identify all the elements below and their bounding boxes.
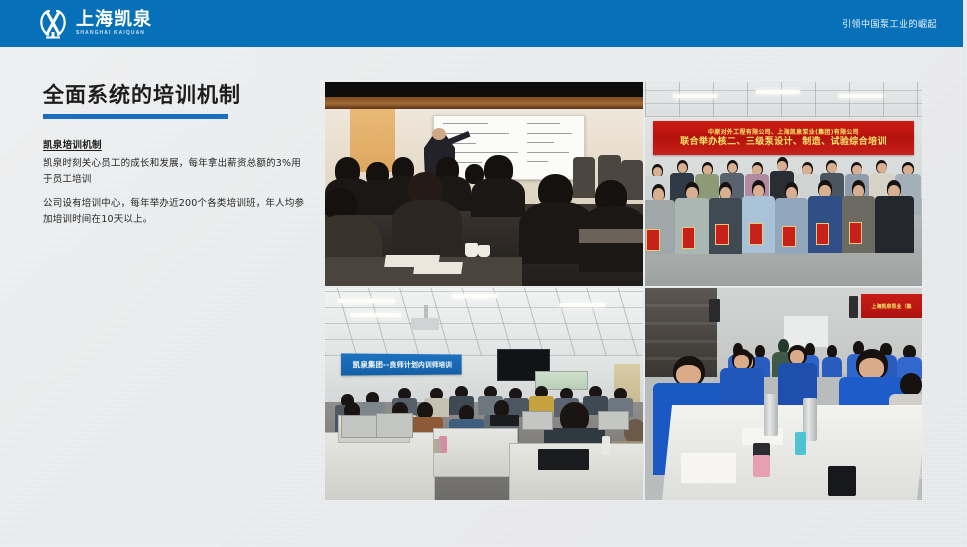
photo-computer-classroom[interactable]: 凯泉集团--良师计划内训师培训: [325, 288, 643, 500]
group-member-seated: [808, 180, 841, 274]
paragraph-two: 公司设有培训中心，每年举办近200个各类培训班，年人均参加培训时间在10天以上。: [43, 196, 305, 227]
monitor: [376, 413, 413, 438]
water-bottle: [764, 394, 778, 436]
certificate: [682, 227, 695, 249]
logo-english-text: SHANGHAI KAIQUAN: [76, 31, 152, 36]
paper-cup: [478, 245, 491, 257]
group-member-seated: [775, 182, 808, 274]
pink-phone-case: [753, 455, 770, 476]
photo-grid: 中原对外工程有限公司、上海凯泉泵业(集团)有限公司 联合举办核二、三级泵设计、制…: [325, 82, 922, 504]
group-member-seated: [645, 184, 675, 274]
certificate: [646, 229, 659, 251]
paper-cup: [465, 243, 478, 257]
group-member-seated: [842, 180, 875, 274]
title-underline-rule: [43, 114, 228, 119]
red-banner-text: 上海凯泉泵业（集: [872, 303, 912, 310]
header-slogan: 引领中国泵工业的崛起: [842, 0, 937, 47]
text-column: 全面系统的培训机制 凯泉培训机制 凯泉时刻关心员工的成长和发展，每年拿出薪资总额…: [43, 84, 305, 228]
group-member-seated: [709, 182, 742, 274]
smartphone: [828, 466, 856, 496]
body-text-block: 凯泉培训机制 凯泉时刻关心员工的成长和发展，每年拿出薪资总额的3%用于员工培训 …: [43, 137, 305, 228]
paragraph-one: 凯泉时刻关心员工的成长和发展，每年拿出薪资总额的3%用于员工培训: [43, 156, 305, 187]
certificate: [749, 223, 762, 245]
notes-paper: [681, 453, 736, 483]
photo-workshop-training[interactable]: 上海凯泉泵业（集: [645, 288, 922, 500]
ceiling: [325, 82, 643, 109]
blue-banner-text: 凯泉集团--良师计划内训师培训: [353, 359, 452, 369]
laptop: [538, 449, 589, 470]
monitor: [341, 415, 378, 438]
red-banner: 上海凯泉泵业（集: [861, 294, 922, 317]
certificate: [715, 224, 728, 245]
certificate: [816, 223, 829, 245]
conference-table: [662, 405, 922, 500]
water-bottle: [795, 432, 806, 455]
laptop: [490, 415, 519, 426]
blue-banner: 凯泉集团--良师计划内训师培训: [341, 353, 461, 375]
monitor: [598, 411, 629, 430]
logo-chinese-text: 上海凯泉: [76, 11, 152, 29]
photo-group-certificate[interactable]: 中原对外工程有限公司、上海凯泉泵业(集团)有限公司 联合举办核二、三级泵设计、制…: [645, 82, 922, 286]
ceiling: [645, 82, 922, 117]
page-title: 全面系统的培训机制: [43, 84, 305, 107]
wall-speaker: [849, 296, 859, 317]
slide-canvas: 上海凯泉 SHANGHAI KAIQUAN 引领中国泵工业的崛起 全面系统的培训…: [0, 0, 967, 547]
group-member-seated: [875, 180, 914, 274]
group-member-seated: [742, 180, 775, 274]
ceiling-projector: [411, 318, 440, 331]
instructor-head: [432, 128, 446, 140]
certificate: [782, 226, 795, 247]
kaiquan-logo-icon: [36, 8, 70, 39]
banner-line-1: 中原对外工程有限公司、上海凯泉泵业(集团)有限公司: [708, 130, 859, 136]
handout-paper: [413, 262, 462, 274]
monitor: [522, 411, 553, 430]
group-member-seated: [675, 182, 708, 274]
photo-lecture-hall[interactable]: [325, 82, 643, 286]
wall-speaker: [709, 299, 720, 322]
certificate: [849, 222, 862, 244]
red-banner: 中原对外工程有限公司、上海凯泉泵业(集团)有限公司 联合举办核二、三级泵设计、制…: [653, 121, 913, 156]
section-subheading: 凯泉培训机制: [43, 137, 305, 151]
header-bar: 上海凯泉 SHANGHAI KAIQUAN 引领中国泵工业的崛起: [0, 0, 963, 47]
banner-line-2: 联合举办核二、三级泵设计、制造、试验综合培训: [680, 138, 887, 147]
brand-logo[interactable]: 上海凯泉 SHANGHAI KAIQUAN: [36, 8, 152, 39]
